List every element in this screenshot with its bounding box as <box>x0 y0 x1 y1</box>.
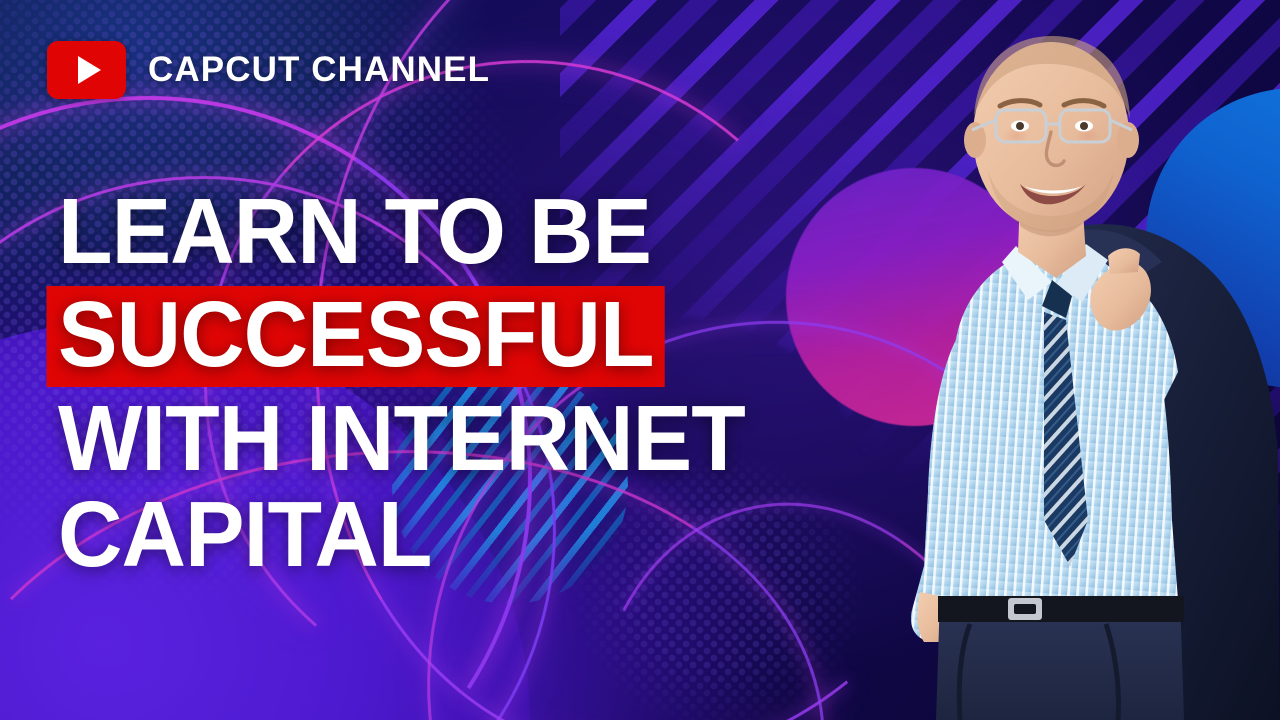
headline-line-4: CAPITAL <box>58 489 874 581</box>
headline-line-2: SUCCESSFUL <box>58 286 874 388</box>
pupil-left <box>1016 122 1024 130</box>
belt <box>938 596 1184 622</box>
youtube-thumbnail: CAPCUT CHANNEL LEARN TO BE SUCCESSFUL WI… <box>0 0 1280 720</box>
headline-highlight: SUCCESSFUL <box>46 286 665 388</box>
headline-line-1: LEARN TO BE <box>58 186 874 278</box>
pupil-right <box>1080 122 1088 130</box>
channel-name: CAPCUT CHANNEL <box>148 50 490 90</box>
channel-branding: CAPCUT CHANNEL <box>47 41 490 99</box>
headline-block: LEARN TO BE SUCCESSFUL WITH INTERNET CAP… <box>58 186 908 580</box>
headline-line-3: WITH INTERNET <box>58 393 874 485</box>
play-triangle-icon <box>78 56 101 84</box>
youtube-play-icon[interactable] <box>47 41 126 99</box>
belt-buckle-inner <box>1014 604 1036 614</box>
